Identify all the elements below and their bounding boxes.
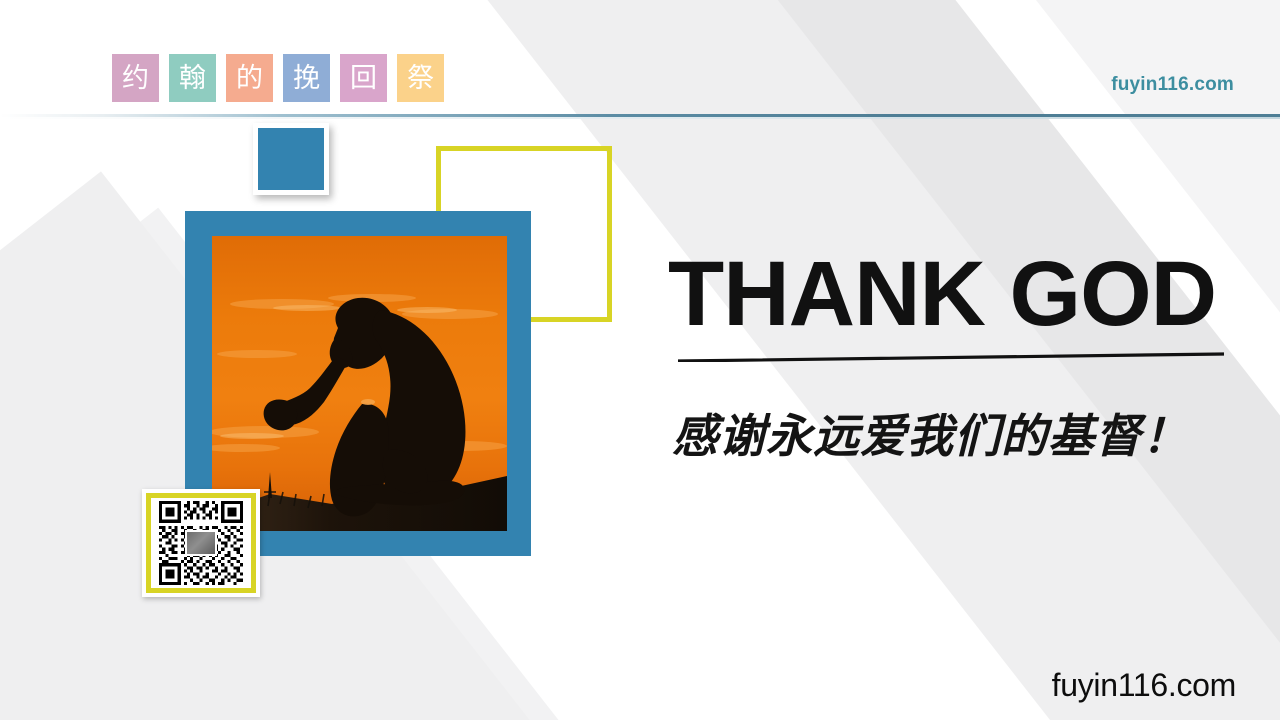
series-title-tiles: 约 翰 的 挽 回 祭 (112, 54, 444, 102)
qr-code[interactable] (142, 489, 260, 597)
title-underline (678, 352, 1224, 362)
series-title-tile: 祭 (397, 54, 444, 102)
series-title-tile: 挽 (283, 54, 330, 102)
series-title-tile: 翰 (169, 54, 216, 102)
prayer-photo (212, 236, 507, 531)
qr-center-logo (185, 530, 217, 556)
presentation-slide: 约 翰 的 挽 回 祭 fuyin116.com (0, 0, 1280, 720)
blue-accent-square (253, 123, 329, 195)
series-title-tile: 回 (340, 54, 387, 102)
header-site-url[interactable]: fuyin116.com (1111, 74, 1234, 96)
series-title-tile: 约 (112, 54, 159, 102)
footer-site-url[interactable]: fuyin116.com (1052, 667, 1236, 704)
qr-code-inner (146, 493, 256, 593)
page-subtitle: 感谢永远爱我们的基督！ (672, 400, 1189, 466)
series-title-tile: 的 (226, 54, 273, 102)
page-title: THANK GOD (668, 248, 1216, 340)
header-divider-line-soft (0, 117, 1280, 119)
